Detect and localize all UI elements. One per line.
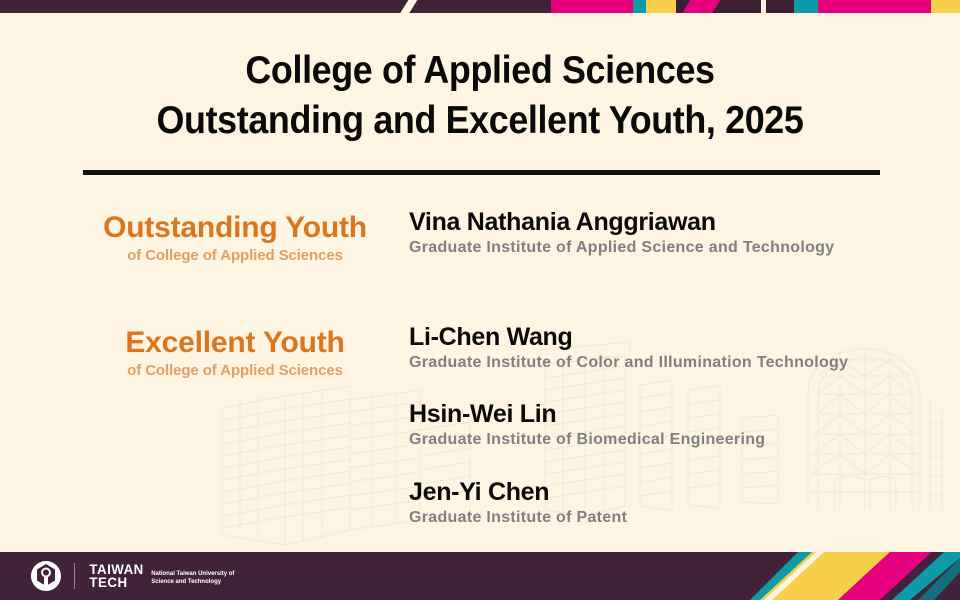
- awardee-name: Jen-Yi Chen: [409, 478, 627, 507]
- logo-subtitle-line-1: National Taiwan University of: [151, 571, 234, 579]
- award-category-outstanding: Outstanding Youth of College of Applied …: [80, 211, 390, 267]
- footer-decorative-corner: [720, 552, 960, 600]
- page-title: College of Applied Sciences Outstanding …: [0, 46, 960, 146]
- awardee-department: Graduate Institute of Color and Illumina…: [409, 352, 848, 374]
- award-category-title: Excellent Youth: [80, 326, 390, 360]
- award-category-excellent: Excellent Youth of College of Applied Sc…: [80, 326, 390, 382]
- taiwan-tech-logo: TAIWAN TECH National Taiwan University o…: [30, 560, 234, 592]
- award-category-title: Outstanding Youth: [80, 211, 390, 245]
- band-segment-teal-1: [633, 0, 646, 13]
- awardee-department: Graduate Institute of Applied Science an…: [409, 237, 834, 259]
- band-segment-yellow-1: [646, 0, 676, 13]
- awardee-name: Li-Chen Wang: [409, 323, 848, 352]
- awardee-entry: Vina Nathania Anggriawan Graduate Instit…: [409, 208, 834, 259]
- band-slash-cream: [396, 0, 421, 13]
- logo-line-tech: TECH: [89, 576, 143, 589]
- awardee-department: Graduate Institute of Patent: [409, 507, 627, 529]
- band-segment-magenta-2: [818, 0, 931, 13]
- logo-wordmark: TAIWAN TECH National Taiwan University o…: [88, 563, 234, 589]
- band-segment-plum-2: [766, 0, 794, 13]
- awardee-name: Vina Nathania Anggriawan: [409, 208, 834, 237]
- awardee-entry: Li-Chen Wang Graduate Institute of Color…: [409, 323, 848, 374]
- logo-subtitle-line-2: Science and Technology: [151, 579, 234, 587]
- logo-subtitle: National Taiwan University of Science an…: [151, 571, 234, 586]
- title-line-2: Outstanding and Excellent Youth, 2025: [38, 96, 921, 146]
- awardee-entry: Hsin-Wei Lin Graduate Institute of Biome…: [409, 400, 765, 451]
- slide: College of Applied Sciences Outstanding …: [0, 0, 960, 600]
- award-category-subtitle: of College of Applied Sciences: [80, 360, 390, 382]
- taiwan-tech-emblem-icon: [30, 560, 62, 592]
- awardee-entry: Jen-Yi Chen Graduate Institute of Patent: [409, 478, 627, 529]
- band-segment-yellow-2: [931, 0, 960, 13]
- logo-divider: [74, 563, 75, 589]
- title-divider-rule: [83, 170, 880, 175]
- band-segment-magenta-1: [551, 0, 633, 13]
- title-line-1: College of Applied Sciences: [38, 46, 921, 96]
- footer-bar: TAIWAN TECH National Taiwan University o…: [0, 552, 960, 600]
- awardee-department: Graduate Institute of Biomedical Enginee…: [409, 429, 765, 451]
- awardee-name: Hsin-Wei Lin: [409, 400, 765, 429]
- top-decorative-band: [0, 0, 960, 13]
- award-category-subtitle: of College of Applied Sciences: [80, 245, 390, 267]
- band-segment-teal-2: [794, 0, 818, 13]
- logo-wordmark-lines: TAIWAN TECH: [88, 563, 145, 589]
